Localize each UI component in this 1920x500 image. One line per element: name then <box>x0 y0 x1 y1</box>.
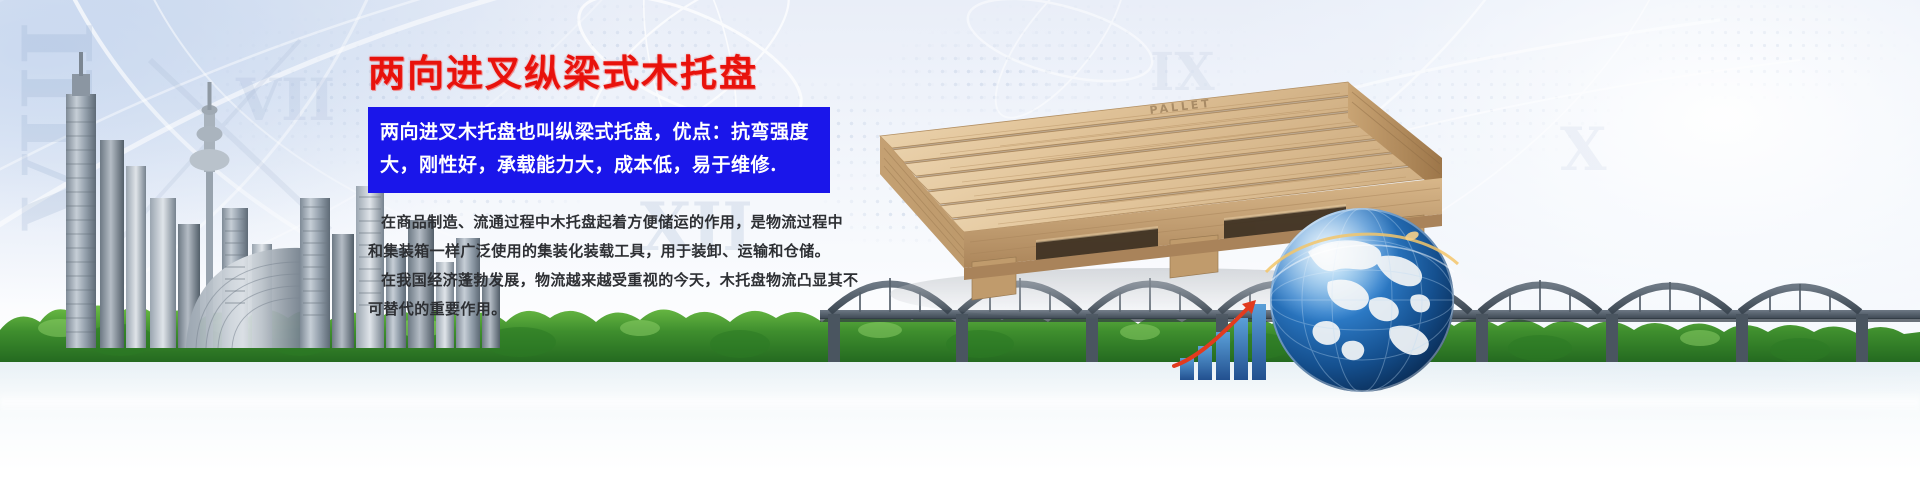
chart-bar-4 <box>1234 318 1248 380</box>
highlight-callout-box: 两向进叉木托盘也叫纵梁式托盘，优点：抗弯强度 大，刚性好，承载能力大，成本低，易… <box>368 107 830 193</box>
body-line-2: 和集装箱一样广泛使用的集装化装载工具，用于装卸、运输和仓储。 <box>368 237 848 266</box>
body-paragraph: 在商品制造、流通过程中木托盘起着方便储运的作用，是物流过程中 和集装箱一样广泛使… <box>368 208 848 324</box>
water-reflection-band <box>0 340 1920 500</box>
page-title: 两向进叉纵梁式木托盘 <box>368 52 848 96</box>
highlight-line-1: 两向进叉木托盘也叫纵梁式托盘，优点：抗弯强度 <box>380 116 822 149</box>
water-highlight-streak <box>0 392 1920 414</box>
globe-graphic <box>1262 200 1462 400</box>
banner-text-block: 两向进叉纵梁式木托盘 两向进叉木托盘也叫纵梁式托盘，优点：抗弯强度 大，刚性好，… <box>368 52 848 324</box>
roman-numeral-x: X <box>1560 115 1607 185</box>
body-line-4: 可替代的重要作用。 <box>368 295 848 324</box>
promotional-banner: VIII VII XII IX X <box>0 0 1920 500</box>
body-line-3: 在我国经济蓬勃发展，物流越来越受重视的今天，木托盘物流凸显其不 <box>368 266 848 295</box>
body-line-1: 在商品制造、流通过程中木托盘起着方便储运的作用，是物流过程中 <box>368 208 848 237</box>
highlight-line-2: 大，刚性好，承载能力大，成本低，易于维修. <box>380 149 822 182</box>
